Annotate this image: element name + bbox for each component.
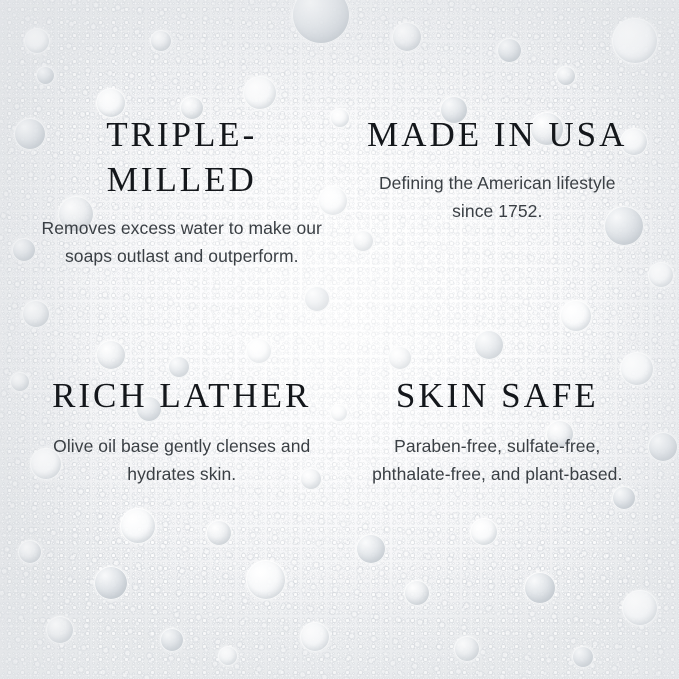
feature-triple-milled: TRIPLE-MILLED Removes excess water to ma… bbox=[24, 112, 340, 337]
feature-grid: TRIPLE-MILLED Removes excess water to ma… bbox=[0, 0, 679, 679]
soap-benefits-infographic: TRIPLE-MILLED Removes excess water to ma… bbox=[0, 0, 679, 679]
feature-title: SKIN SAFE bbox=[396, 373, 599, 418]
feature-title: TRIPLE-MILLED bbox=[33, 112, 330, 202]
feature-body: Removes excess water to make our soaps o… bbox=[36, 214, 328, 270]
feature-body: Olive oil base gently clenses and hydrat… bbox=[32, 432, 332, 488]
feature-title: RICH LATHER bbox=[52, 373, 311, 418]
feature-skin-safe: SKIN SAFE Paraben-free, sulfate-free, ph… bbox=[340, 337, 656, 562]
feature-title: MADE IN USA bbox=[367, 112, 627, 157]
feature-body: Defining the American lifestyle since 17… bbox=[373, 169, 621, 225]
feature-body: Paraben-free, sulfate-free, phthalate-fr… bbox=[366, 432, 628, 488]
feature-rich-lather: RICH LATHER Olive oil base gently clense… bbox=[24, 337, 340, 562]
feature-made-in-usa: MADE IN USA Defining the American lifest… bbox=[340, 112, 656, 337]
